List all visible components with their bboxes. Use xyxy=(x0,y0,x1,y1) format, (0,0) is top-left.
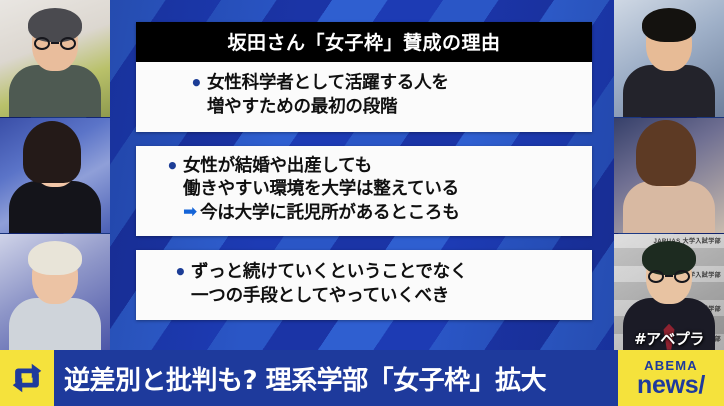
bullet-line: • ずっと続けていくということでなく xyxy=(148,261,580,284)
head-shape xyxy=(32,131,78,187)
bullet-line: • 女性が結婚や出産しても xyxy=(148,155,580,178)
bullet-marker: • xyxy=(174,261,191,283)
bullet-marker: • xyxy=(166,155,183,177)
video-pane-participant-3[interactable] xyxy=(0,233,110,350)
hair-shape xyxy=(636,120,696,186)
bullet-line-continued: 働きやすい環境を大学は整えている xyxy=(148,178,580,201)
card-body: • 女性が結婚や出産しても 働きやすい環境を大学は整えている ➡ 今は大学に託児… xyxy=(136,146,592,236)
broadcast-screen: JARUAS 大学入試学部 JARUAS 大学入試学部 JARUAS 大学入試学… xyxy=(0,0,724,406)
torso-shape xyxy=(9,181,101,233)
card-reason-3: • ずっと続けていくということでなく 一つの手段としてやっていくべき xyxy=(136,250,592,321)
lower-third-banner: 逆差別と批判も? 理系学部「女子枠」拡大 ABEMA news/ xyxy=(0,350,724,406)
program-hashtag: #アベプラ xyxy=(614,328,724,349)
participant-silhouette xyxy=(9,131,101,233)
hair-shape xyxy=(642,8,696,42)
hair-shape xyxy=(28,241,82,275)
card-body: • ずっと続けていくということでなく 一つの手段としてやっていくべき xyxy=(136,250,592,321)
banner-headline: 逆差別と批判も? 理系学部「女子枠」拡大 xyxy=(64,360,546,397)
video-pane-participant-2[interactable] xyxy=(0,117,110,234)
participant-silhouette xyxy=(623,15,715,117)
banner-headline-area: 逆差別と批判も? 理系学部「女子枠」拡大 xyxy=(54,350,618,406)
torso-shape xyxy=(623,65,715,117)
video-pane-participant-6[interactable]: JARUAS 大学入試学部 JARUAS 大学入試学部 JARUAS 大学入試学… xyxy=(614,233,724,350)
bullet-text: 女性が結婚や出産しても xyxy=(183,155,372,178)
video-pane-participant-1[interactable] xyxy=(0,0,110,117)
video-column-right: JARUAS 大学入試学部 JARUAS 大学入試学部 JARUAS 大学入試学… xyxy=(614,0,724,350)
torso-shape xyxy=(9,65,101,117)
participant-silhouette xyxy=(9,15,101,117)
bullet-line-continued: 増やすための最初の段階 xyxy=(148,96,580,119)
card-reason-2: • 女性が結婚や出産しても 働きやすい環境を大学は整えている ➡ 今は大学に託児… xyxy=(136,146,592,236)
card-body: • 女性科学者として活躍する人を 増やすための最初の段階 xyxy=(136,62,592,132)
video-column-left xyxy=(0,0,110,350)
bullet-text: 一つの手段としてやっていくべき xyxy=(191,285,449,308)
hair-shape xyxy=(23,121,81,183)
bullet-line-continued: 一つの手段としてやっていくべき xyxy=(148,285,580,308)
arrow-marker: ➡ xyxy=(183,202,200,223)
slide-card-stack: 坂田さん「女子枠」賛成の理由 • 女性科学者として活躍する人を 増やすための最初… xyxy=(136,22,592,320)
logo-news-text: news/ xyxy=(637,373,705,398)
arrow-text: 今は大学に託児所があるところも xyxy=(200,202,460,225)
abema-news-logo: ABEMA news/ xyxy=(618,350,724,406)
head-shape xyxy=(646,15,692,71)
arrow-sub-line: ➡ 今は大学に託児所があるところも xyxy=(148,202,580,225)
video-pane-participant-5[interactable] xyxy=(614,117,724,234)
bullet-marker: • xyxy=(190,72,207,94)
card-reason-1: 坂田さん「女子枠」賛成の理由 • 女性科学者として活躍する人を 増やすための最初… xyxy=(136,22,592,132)
head-shape xyxy=(646,131,692,187)
logo-abema-text: ABEMA xyxy=(644,359,698,372)
bullet-text: 女性科学者として活躍する人を xyxy=(207,72,449,95)
head-shape xyxy=(32,248,78,304)
head-shape xyxy=(646,248,692,304)
bullet-text: ずっと続けていくということでなく xyxy=(191,261,467,284)
torso-shape xyxy=(623,181,715,233)
bullet-text: 増やすための最初の段階 xyxy=(207,96,397,119)
head-shape xyxy=(32,15,78,71)
glasses-icon xyxy=(648,270,690,283)
torso-shape xyxy=(9,298,101,350)
participant-silhouette xyxy=(623,131,715,233)
bullet-line: • 女性科学者として活躍する人を xyxy=(148,72,580,95)
refresh-cycle-icon xyxy=(0,350,54,406)
participant-silhouette xyxy=(9,248,101,350)
glasses-icon xyxy=(34,37,76,50)
bullet-text: 働きやすい環境を大学は整えている xyxy=(183,178,459,201)
video-pane-participant-4[interactable] xyxy=(614,0,724,117)
slide-title: 坂田さん「女子枠」賛成の理由 xyxy=(136,22,592,62)
